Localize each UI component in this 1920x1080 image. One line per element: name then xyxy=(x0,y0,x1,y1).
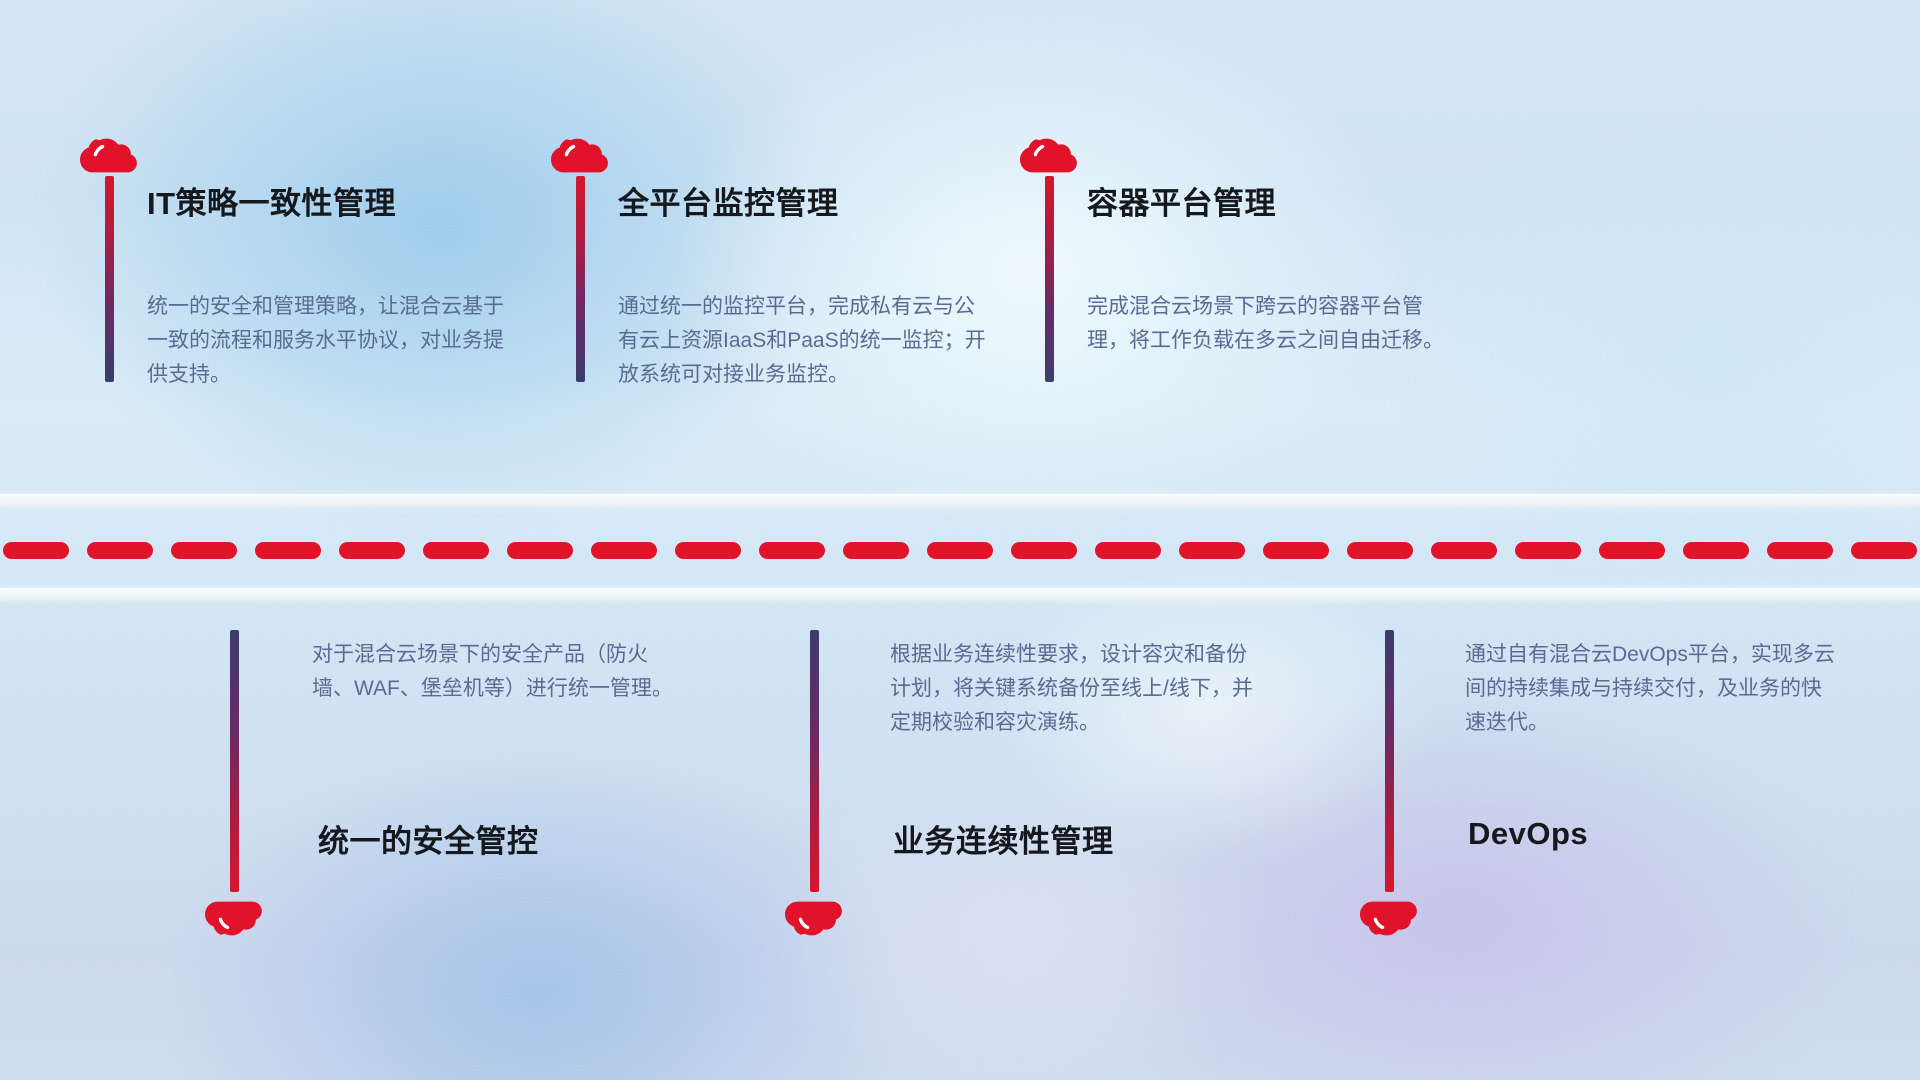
marker-body-devops: 通过自有混合云DevOps平台，实现多云间的持续集成与持续交付，及业务的快速迭代… xyxy=(1465,638,1835,740)
marker-stem-continuity xyxy=(810,630,819,892)
marker-stem-monitoring xyxy=(576,176,585,382)
infographic-canvas: IT策略一致性管理统一的安全和管理策略，让混合云基于一致的流程和服务水平协议，对… xyxy=(0,0,1920,1080)
marker-body-container: 完成混合云场景下跨云的容器平台管理，将工作负载在多云之间自由迁移。 xyxy=(1087,290,1457,358)
road-dash xyxy=(927,542,993,559)
road-dash xyxy=(675,542,741,559)
cloud-icon xyxy=(784,890,846,938)
road-dash xyxy=(423,542,489,559)
road-dash xyxy=(87,542,153,559)
cloud-icon xyxy=(204,890,266,938)
road-dash xyxy=(1347,542,1413,559)
cloud-icon xyxy=(79,136,141,184)
marker-title-it-policy: IT策略一致性管理 xyxy=(147,178,396,223)
marker-body-monitoring: 通过统一的监控平台，完成私有云与公有云上资源IaaS和PaaS的统一监控；开放系… xyxy=(618,290,988,392)
road-dash xyxy=(171,542,237,559)
marker-body-security: 对于混合云场景下的安全产品（防火墙、WAF、堡垒机等）进行统一管理。 xyxy=(312,638,682,706)
cloud-icon xyxy=(1019,136,1081,184)
marker-body-continuity: 根据业务连续性要求，设计容灾和备份计划，将关键系统备份至线上/线下，并定期校验和… xyxy=(890,638,1260,740)
marker-title-monitoring: 全平台监控管理 xyxy=(618,178,839,223)
marker-title-devops: DevOps xyxy=(1468,816,1588,852)
road-dash xyxy=(255,542,321,559)
road-dash xyxy=(339,542,405,559)
marker-title-continuity: 业务连续性管理 xyxy=(893,816,1114,861)
road-dash xyxy=(1515,542,1581,559)
road-center-dashes xyxy=(0,542,1920,559)
road-dash xyxy=(1431,542,1497,559)
marker-title-security: 统一的安全管控 xyxy=(318,816,539,861)
road-dash xyxy=(591,542,657,559)
marker-stem-it-policy xyxy=(105,176,114,382)
road-dash xyxy=(1767,542,1833,559)
road-dash xyxy=(1011,542,1077,559)
road-dash xyxy=(1095,542,1161,559)
road-dash xyxy=(3,542,69,559)
road-band-upper xyxy=(0,494,1920,507)
marker-stem-devops xyxy=(1385,630,1394,892)
road-dash xyxy=(1179,542,1245,559)
marker-title-container: 容器平台管理 xyxy=(1087,178,1276,223)
marker-stem-container xyxy=(1045,176,1054,382)
road-dash xyxy=(843,542,909,559)
road-dash xyxy=(1851,542,1917,559)
marker-stem-security xyxy=(230,630,239,892)
cloud-icon xyxy=(1359,890,1421,938)
road-dash xyxy=(507,542,573,559)
road-band-lower xyxy=(0,588,1920,601)
road-dash xyxy=(759,542,825,559)
road-dash xyxy=(1599,542,1665,559)
road-dash xyxy=(1683,542,1749,559)
road-dash xyxy=(1263,542,1329,559)
cloud-icon xyxy=(550,136,612,184)
marker-body-it-policy: 统一的安全和管理策略，让混合云基于一致的流程和服务水平协议，对业务提供支持。 xyxy=(147,290,517,392)
background-texture xyxy=(0,0,1920,1080)
